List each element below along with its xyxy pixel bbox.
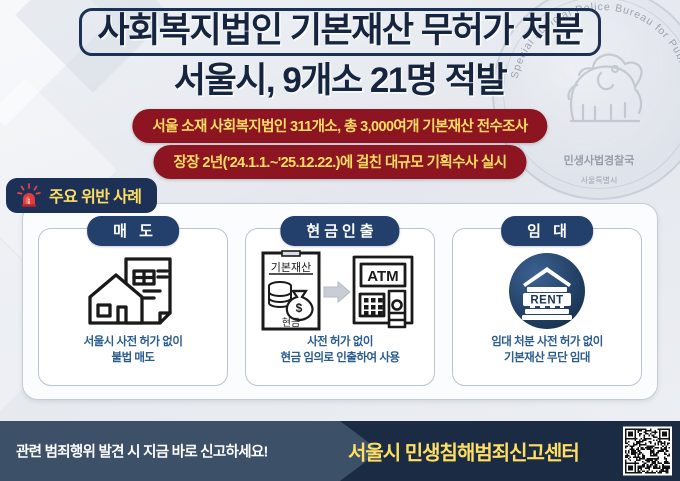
svg-text:$: $ xyxy=(296,301,303,315)
card-caption-rent: 임대 처분 사전 허가 없이 기본재산 무단 임대 xyxy=(491,335,603,366)
poster-root: Special Judicial Police Bureau for Publi… xyxy=(0,0,680,481)
card-art-sale xyxy=(84,249,182,333)
house-document-icon xyxy=(84,251,182,331)
title-block: 사회복지법인 기본재산 무허가 처분 서울시, 9개소 21명 적발 xyxy=(0,8,680,99)
page-title-line2: 서울시, 9개소 21명 적발 xyxy=(0,62,680,99)
atm-label: ATM xyxy=(367,268,398,285)
card-caption-cash-withdrawal: 사전 허가 없이 현금 임의로 인출하여 사용 xyxy=(281,335,400,366)
violation-card-rent: 임 대 xyxy=(452,228,642,386)
card-art-rent: RENT xyxy=(507,249,587,333)
card-caption-cash-line1: 사전 허가 없이 xyxy=(281,335,400,351)
card-caption-rent-line2: 기본재산 무단 임대 xyxy=(491,351,603,367)
violation-cards: 매 도 xyxy=(38,228,642,386)
card-title-rent: 임 대 xyxy=(501,216,593,246)
violation-card-cash-withdrawal: 현금인출 기본재산 xyxy=(245,228,435,386)
card-caption-sale-line2: 불법 매도 xyxy=(84,351,183,367)
violation-card-sale: 매 도 xyxy=(38,228,228,386)
card-art-cash-withdrawal: 기본재산 $ 현금 xyxy=(260,249,420,333)
page-title-line1: 사회복지법인 기본재산 무허가 처분 xyxy=(79,8,600,56)
report-footer: 관련 범죄행위 발견 시 지금 바로 신고하세요! 서울시 민생침해범죄신고센터 xyxy=(0,421,680,481)
card-caption-sale: 서울시 사전 허가 없이 불법 매도 xyxy=(84,335,183,366)
doc-top-label: 기본재산 xyxy=(271,261,311,274)
qr-code-icon[interactable] xyxy=(623,427,672,476)
card-title-sale: 매 도 xyxy=(87,216,179,246)
section-header-label: 주요 위반 사례 xyxy=(49,183,141,207)
highlight-banner-investigation: 장장 2년('24.1.1.~'25.12.22.)에 걸친 대규모 기획수사 … xyxy=(154,145,527,179)
footer-note: 관련 범죄행위 발견 시 지금 바로 신고하세요! xyxy=(16,441,268,462)
card-title-cash-withdrawal: 현금인출 xyxy=(280,216,399,246)
highlight-banner-survey: 서울 소재 사회복지법인 311개소, 총 3,000여개 기본재산 전수조사 xyxy=(132,109,547,143)
card-caption-cash-line2: 현금 임의로 인출하여 사용 xyxy=(281,351,400,367)
card-caption-sale-line1: 서울시 사전 허가 없이 xyxy=(84,335,183,351)
emblem-korean-sublabel: 서울특별시 xyxy=(494,175,680,186)
section-header-violations: 주요 위반 사례 xyxy=(6,178,157,213)
rent-building-icon: RENT xyxy=(507,251,587,331)
rent-badge-label: RENT xyxy=(530,295,563,307)
cash-atm-icon: 기본재산 $ 현금 xyxy=(260,249,420,333)
card-caption-rent-line1: 임대 처분 사전 허가 없이 xyxy=(491,335,603,351)
footer-center-title: 서울시 민생침해범죄신고센터 xyxy=(348,437,579,466)
doc-bottom-label: 현금 xyxy=(282,317,300,329)
siren-icon xyxy=(16,183,42,207)
